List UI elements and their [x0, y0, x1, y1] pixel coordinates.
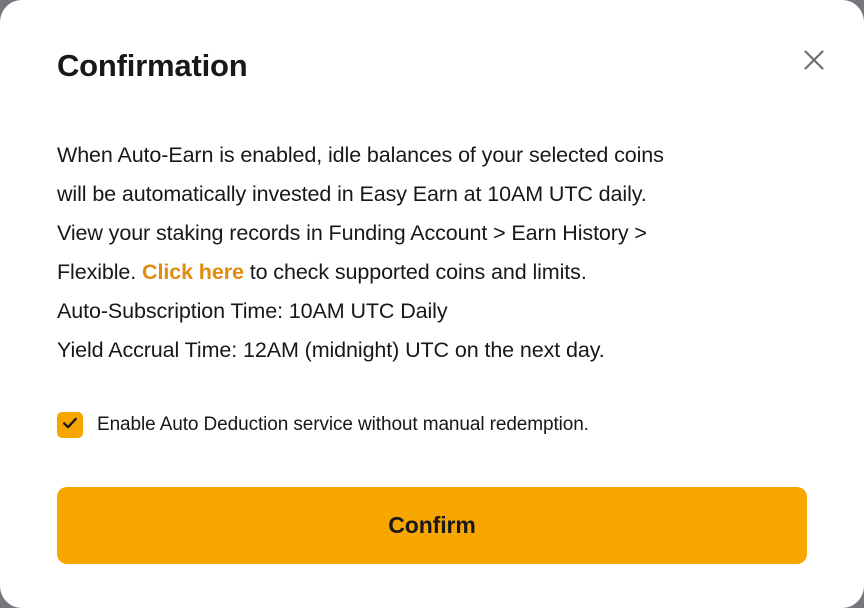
- confirmation-dialog: Confirmation When Auto-Earn is enabled, …: [0, 0, 864, 608]
- dialog-body: When Auto-Earn is enabled, idle balances…: [57, 136, 809, 370]
- body-line-4-prefix: Flexible.: [57, 260, 142, 284]
- body-line-1: When Auto-Earn is enabled, idle balances…: [57, 136, 809, 175]
- supported-coins-link[interactable]: Click here: [142, 260, 244, 284]
- close-icon: [803, 49, 825, 71]
- body-line-3: View your staking records in Funding Acc…: [57, 214, 809, 253]
- auto-deduction-checkbox-label: Enable Auto Deduction service without ma…: [97, 412, 589, 438]
- auto-deduction-checkbox-row[interactable]: Enable Auto Deduction service without ma…: [57, 412, 589, 438]
- check-icon: [61, 414, 79, 437]
- close-button[interactable]: [794, 40, 834, 80]
- modal-overlay: Confirmation When Auto-Earn is enabled, …: [0, 0, 864, 608]
- body-line-4: Flexible. Click here to check supported …: [57, 253, 809, 292]
- dialog-title: Confirmation: [57, 40, 828, 92]
- body-line-6: Yield Accrual Time: 12AM (midnight) UTC …: [57, 331, 809, 370]
- body-line-4-suffix: to check supported coins and limits.: [244, 260, 587, 284]
- auto-deduction-checkbox[interactable]: [57, 412, 83, 438]
- dialog-header: Confirmation: [57, 40, 828, 92]
- body-line-2: will be automatically invested in Easy E…: [57, 175, 809, 214]
- confirm-button[interactable]: Confirm: [57, 487, 807, 564]
- body-line-5: Auto-Subscription Time: 10AM UTC Daily: [57, 292, 809, 331]
